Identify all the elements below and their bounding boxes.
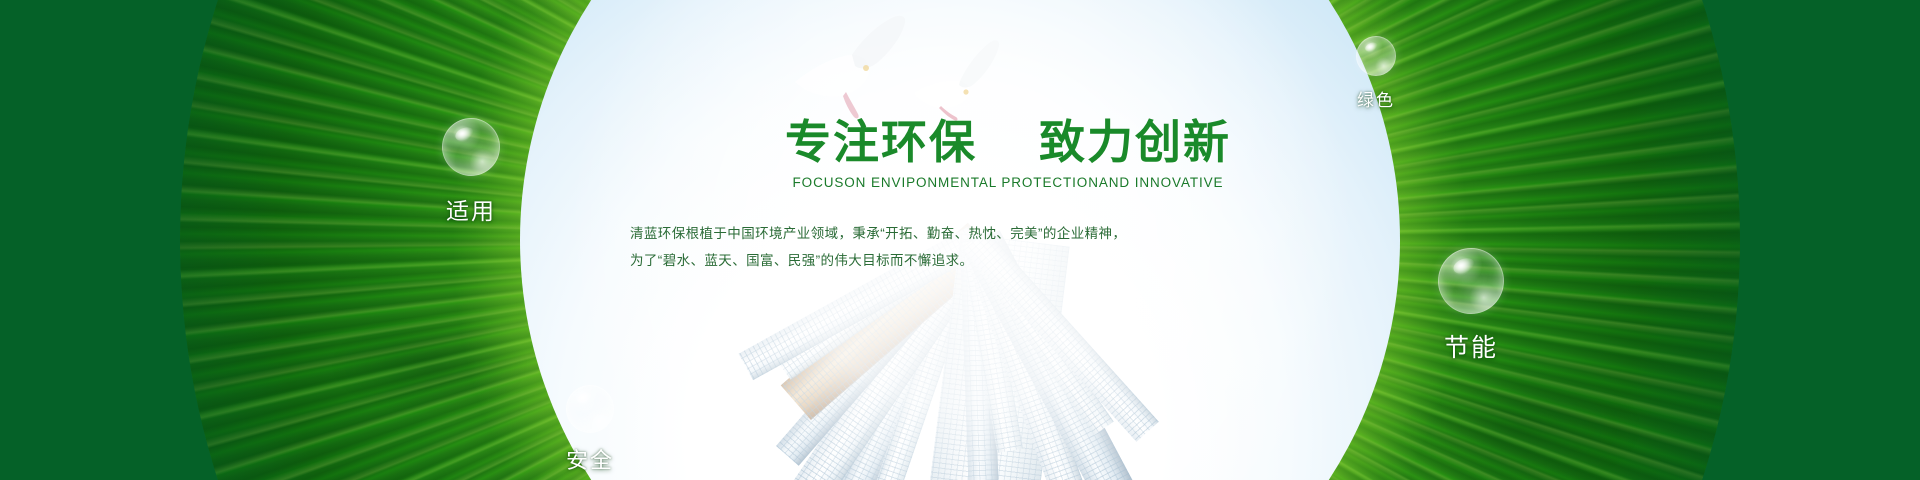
headline-part-2: 致力创新 <box>1039 115 1231 169</box>
seagull-icon <box>915 40 999 120</box>
description-line-2: 为了“碧水、蓝天、国富、民强”的伟大目标而不懈追求。 <box>628 247 1388 274</box>
feature-label: 安全 <box>530 443 650 475</box>
bubble-icon <box>1356 36 1396 76</box>
description-line-1: 清蓝环保根植于中国环境产业领域，秉承“开拓、勤奋、热忱、完美”的企业精神， <box>628 220 1388 247</box>
description: 清蓝环保根植于中国环境产业领域，秉承“开拓、勤奋、热忱、完美”的企业精神， 为了… <box>628 220 1388 274</box>
feature-label: 节能 <box>1406 328 1536 364</box>
feature-label: 适用 <box>406 192 536 226</box>
page-title: 专注环保 致力创新 <box>628 118 1388 167</box>
feature-green[interactable]: 绿色 <box>1320 36 1432 111</box>
feature-applicable[interactable]: 适用 <box>406 118 536 226</box>
feature-safety[interactable]: 安全 <box>530 385 650 475</box>
copy-block: 专注环保 致力创新 FOCUSON ENVIPONMENTAL PROTECTI… <box>628 118 1388 274</box>
bubble-icon <box>1438 248 1504 314</box>
seagull-icon <box>795 16 905 119</box>
feature-energy-saving[interactable]: 节能 <box>1406 248 1536 364</box>
feature-label: 绿色 <box>1320 86 1432 111</box>
headline-part-1: 专注环保 <box>785 115 977 169</box>
hero-banner: 适用 安全 绿色 节能 专注环保 致力创新 FOCUSON ENVIPONMEN… <box>0 0 1920 480</box>
page-subtitle: FOCUSON ENVIPONMENTAL PROTECTIONAND INNO… <box>628 175 1388 190</box>
bubble-icon <box>566 385 614 433</box>
bubble-icon <box>442 118 500 176</box>
